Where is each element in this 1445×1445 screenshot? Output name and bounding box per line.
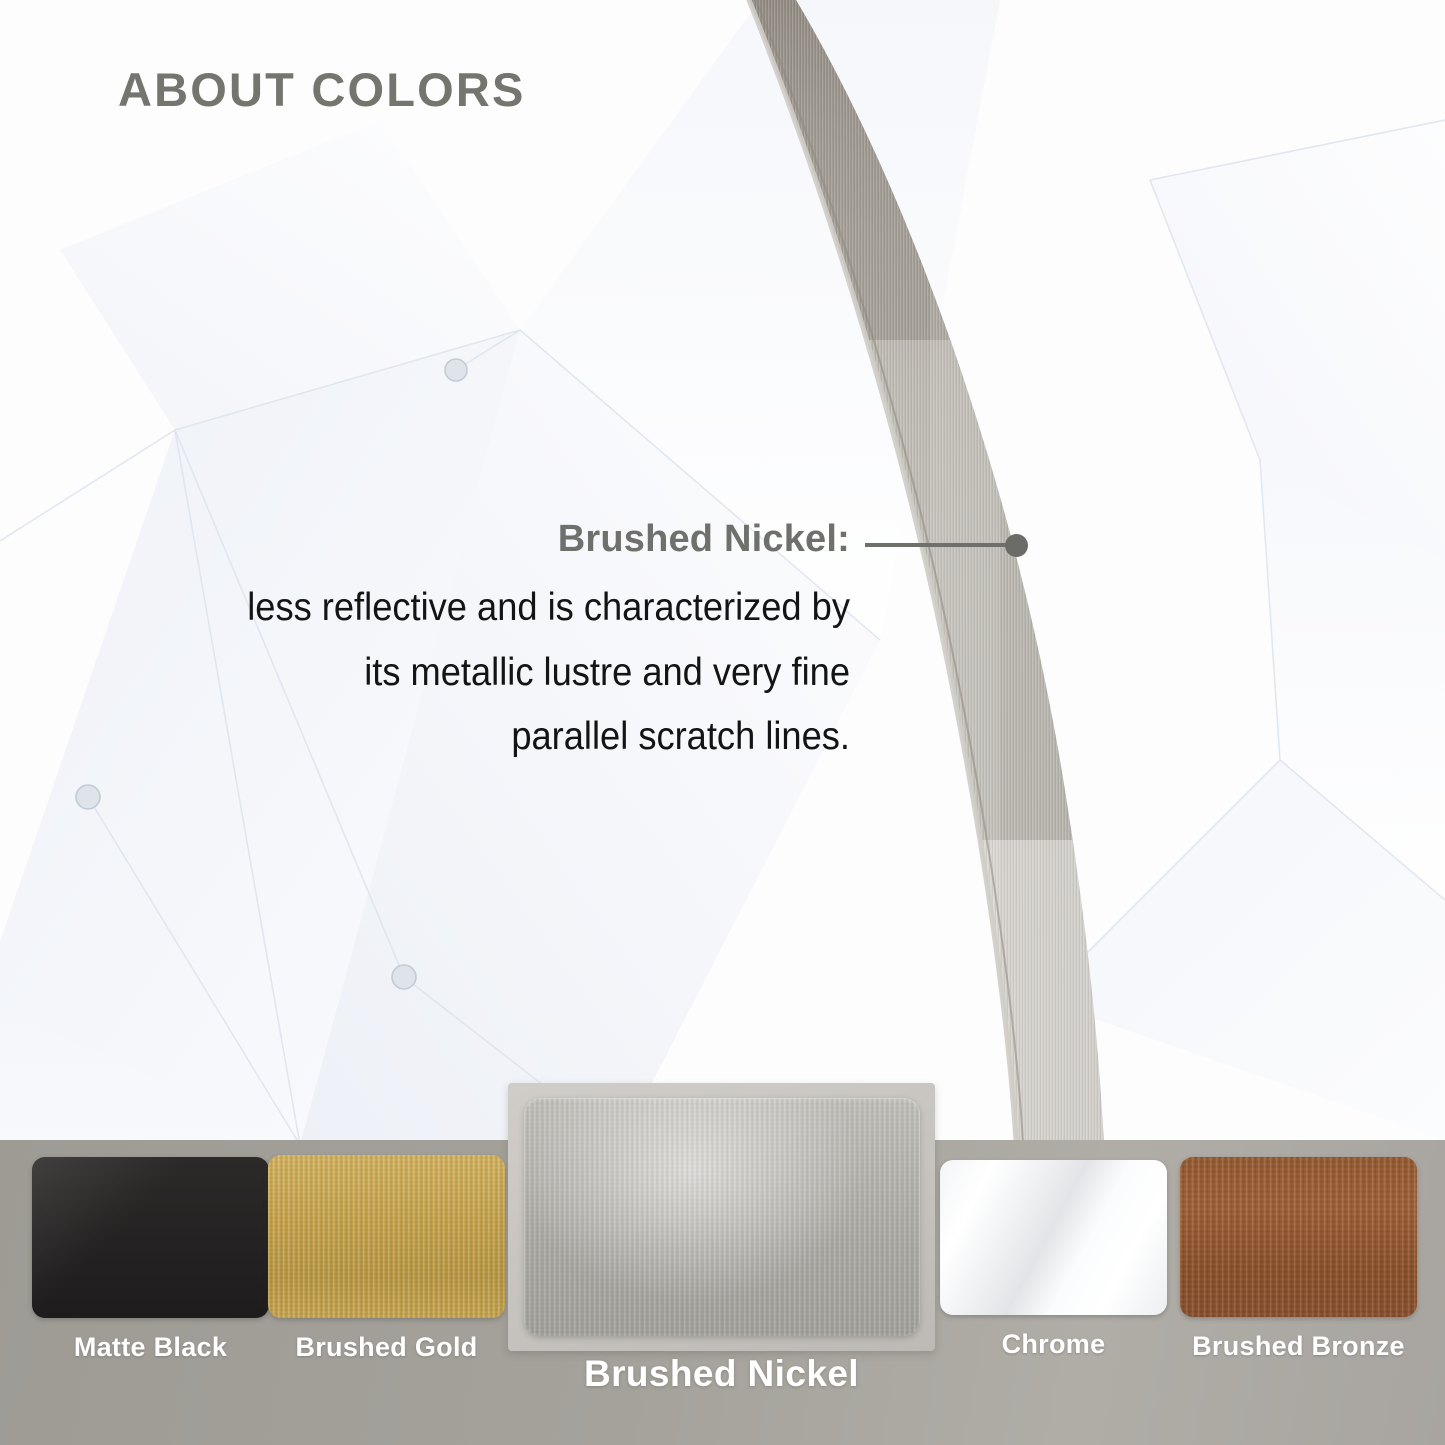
swatch-label-brushed-gold: Brushed Gold [268,1332,505,1363]
swatch-chip-matte-black[interactable] [32,1157,269,1318]
swatch-chrome[interactable]: Chrome [940,1160,1167,1360]
leader-line-icon [865,543,1015,547]
callout-block: Brushed Nickel: less reflective and is c… [90,520,850,770]
swatch-label-brushed-nickel: Brushed Nickel [508,1353,935,1395]
swatch-label-matte-black: Matte Black [32,1332,269,1363]
infographic-canvas: ABOUT COLORS Brushed Nickel: less reflec… [0,0,1445,1445]
swatch-chip-chrome[interactable] [940,1160,1167,1315]
callout-body-text: less reflective and is characterized by … [143,576,850,770]
page-title: ABOUT COLORS [118,62,526,117]
swatch-matte-black[interactable]: Matte Black [32,1157,269,1363]
swatch-brushed-gold[interactable]: Brushed Gold [268,1155,505,1363]
swatch-label-chrome: Chrome [940,1329,1167,1360]
leader-dot-icon [1005,534,1028,557]
swatch-brushed-nickel-featured[interactable]: Brushed Nickel [508,1083,935,1351]
swatch-chip-brushed-bronze[interactable] [1180,1157,1417,1317]
swatch-label-brushed-bronze: Brushed Bronze [1180,1331,1417,1362]
callout-label: Brushed Nickel: [90,520,850,558]
swatch-chip-brushed-nickel[interactable] [524,1098,920,1336]
swatch-chip-brushed-gold[interactable] [268,1155,505,1318]
swatch-brushed-bronze[interactable]: Brushed Bronze [1180,1157,1417,1362]
